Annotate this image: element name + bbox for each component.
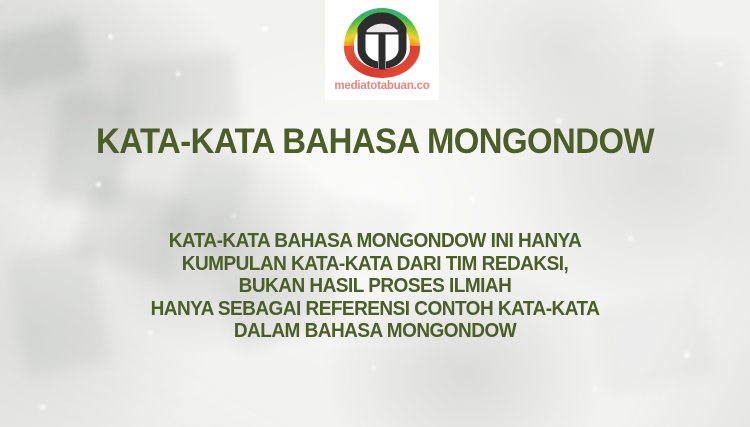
mediatotabuan-logo-icon (338, 6, 426, 78)
page-title: KATA-KATA BAHASA MONGONDOW (23, 122, 728, 162)
disclaimer-line: KATA-KATA BAHASA MONGONDOW INI HANYA (19, 230, 732, 253)
logo-tagline: mediatotabuan.co (334, 80, 429, 92)
disclaimer-line: DALAM BAHASA MONGONDOW (19, 320, 732, 343)
disclaimer-line: HANYA SEBAGAI REFERENSI CONTOH KATA-KATA (19, 298, 732, 321)
disclaimer-line: BUKAN HASIL PROSES ILMIAH (19, 275, 732, 298)
disclaimer-text: KATA-KATA BAHASA MONGONDOW INI HANYA KUM… (19, 230, 732, 343)
poster-canvas: mediatotabuan.co KATA-KATA BAHASA MONGON… (0, 0, 750, 427)
disclaimer-line: KUMPULAN KATA-KATA DARI TIM REDAKSI, (19, 253, 732, 276)
brand-logo-card: mediatotabuan.co (325, 0, 439, 100)
